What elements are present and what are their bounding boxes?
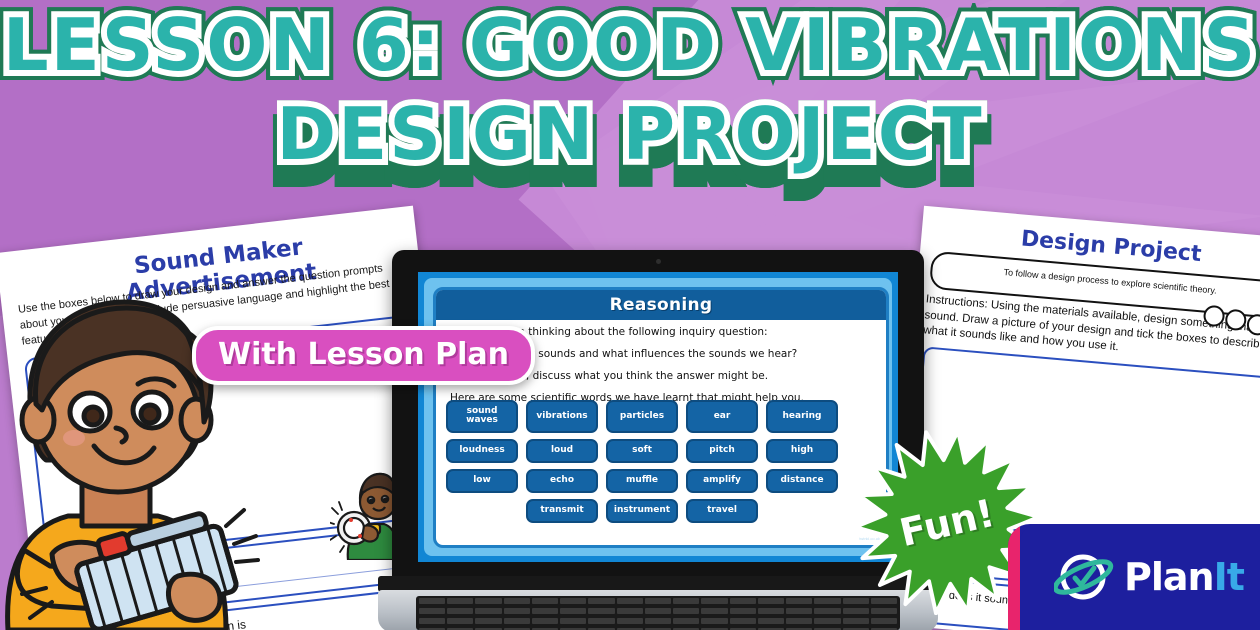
keyboard-key[interactable] [673, 618, 699, 624]
keyboard-key[interactable] [504, 608, 530, 614]
keyboard-key[interactable] [730, 618, 756, 624]
logo-text-it: It [1214, 555, 1244, 599]
keyboard-key[interactable] [588, 608, 614, 614]
vocabulary-tile-row: transmitinstrumenttravel [446, 499, 878, 523]
vocabulary-tile-row: lowechomuffleamplifydistance [446, 469, 878, 493]
keyboard-row [416, 626, 900, 630]
vocabulary-tile[interactable]: echo [526, 469, 598, 493]
keyboard-key[interactable] [588, 598, 614, 604]
laptop-lid: Reasoning We have been thinking about th… [392, 250, 924, 580]
vocabulary-tile[interactable]: instrument [606, 499, 678, 523]
keyboard-key[interactable] [730, 608, 756, 614]
keyboard-key[interactable] [532, 608, 558, 614]
logo-text-plan: Plan [1124, 555, 1214, 599]
keyboard-key[interactable] [617, 608, 643, 614]
vocabulary-tile[interactable]: hearing [766, 400, 838, 433]
keyboard-key[interactable] [475, 618, 501, 624]
vocabulary-tile[interactable]: high [766, 439, 838, 463]
keyboard-key[interactable] [645, 598, 671, 604]
keyboard-key[interactable] [645, 618, 671, 624]
keyboard-key[interactable] [786, 598, 812, 604]
vocabulary-tile[interactable]: pitch [686, 439, 758, 463]
vocabulary-tile[interactable]: sound waves [446, 400, 518, 433]
poster-canvas: Lesson 6: Good Vibrations Lesson 6: Good… [0, 0, 1260, 630]
keyboard-key[interactable] [447, 618, 473, 624]
keyboard-key[interactable] [560, 598, 586, 604]
logo-pink-edge [1008, 524, 1020, 630]
planet-check-icon [1054, 548, 1116, 606]
logo-text: PlanIt [1124, 555, 1244, 599]
keyboard-key[interactable] [843, 618, 869, 624]
laptop-screen: Reasoning We have been thinking about th… [418, 272, 898, 562]
keyboard-key[interactable] [786, 618, 812, 624]
keyboard-key[interactable] [786, 608, 812, 614]
vocabulary-tile[interactable]: distance [766, 469, 838, 493]
keyboard-row [416, 616, 900, 626]
keyboard-key[interactable] [504, 598, 530, 604]
keyboard-row [416, 606, 900, 616]
presentation-slide[interactable]: Reasoning We have been thinking about th… [424, 278, 892, 556]
keyboard-key[interactable] [419, 608, 445, 614]
keyboard-key[interactable] [560, 618, 586, 624]
keyboard-key[interactable] [475, 608, 501, 614]
webcam-icon [656, 259, 661, 264]
keyboard-key[interactable] [673, 598, 699, 604]
keyboard-key[interactable] [758, 608, 784, 614]
vocabulary-tile[interactable]: travel [686, 499, 758, 523]
vocabulary-tile[interactable]: transmit [526, 499, 598, 523]
keyboard-key[interactable] [419, 598, 445, 604]
vocabulary-tile[interactable]: particles [606, 400, 678, 433]
vocabulary-tile[interactable]: low [446, 469, 518, 493]
vocabulary-tile[interactable]: muffle [606, 469, 678, 493]
vocabulary-tile[interactable]: vibrations [526, 400, 598, 433]
with-lesson-plan-label: With Lesson Plan [218, 337, 509, 372]
vocabulary-tile-row: loudnessloudsoftpitchhigh [446, 439, 878, 463]
keyboard-key[interactable] [475, 598, 501, 604]
keyboard-key[interactable] [758, 618, 784, 624]
keyboard-key[interactable] [560, 608, 586, 614]
keyboard-key[interactable] [532, 618, 558, 624]
keyboard-key[interactable] [617, 598, 643, 604]
keyboard-key[interactable] [814, 598, 840, 604]
vocabulary-tile[interactable]: ear [686, 400, 758, 433]
vocabulary-tile[interactable]: loudness [446, 439, 518, 463]
keyboard-key[interactable] [645, 608, 671, 614]
vocabulary-tile-grid: sound wavesvibrationsparticlesearhearing… [446, 400, 878, 529]
keyboard-key[interactable] [701, 598, 727, 604]
keyboard-key[interactable] [758, 598, 784, 604]
keyboard-key[interactable] [673, 608, 699, 614]
keyboard-key[interactable] [447, 608, 473, 614]
keyboard-key[interactable] [814, 608, 840, 614]
keyboard-key[interactable] [701, 608, 727, 614]
keyboard-key[interactable] [814, 618, 840, 624]
keyboard-key[interactable] [617, 618, 643, 624]
keyboard-key[interactable] [730, 598, 756, 604]
keyboard-row [416, 596, 900, 606]
vocabulary-tile[interactable]: amplify [686, 469, 758, 493]
keyboard-key[interactable] [419, 618, 445, 624]
slide-title: Reasoning [436, 290, 886, 320]
with-lesson-plan-badge[interactable]: With Lesson Plan [192, 326, 535, 385]
laptop-keyboard[interactable] [416, 596, 900, 630]
keyboard-key[interactable] [701, 618, 727, 624]
keyboard-key[interactable] [504, 618, 530, 624]
planit-logo[interactable]: PlanIt [1008, 524, 1260, 630]
logo-inner: PlanIt [1020, 524, 1260, 630]
vocabulary-tile[interactable]: loud [526, 439, 598, 463]
vocabulary-tile[interactable]: soft [606, 439, 678, 463]
keyboard-key[interactable] [532, 598, 558, 604]
vocabulary-tile-row: sound wavesvibrationsparticlesearhearing [446, 400, 878, 433]
keyboard-key[interactable] [588, 618, 614, 624]
keyboard-key[interactable] [447, 598, 473, 604]
